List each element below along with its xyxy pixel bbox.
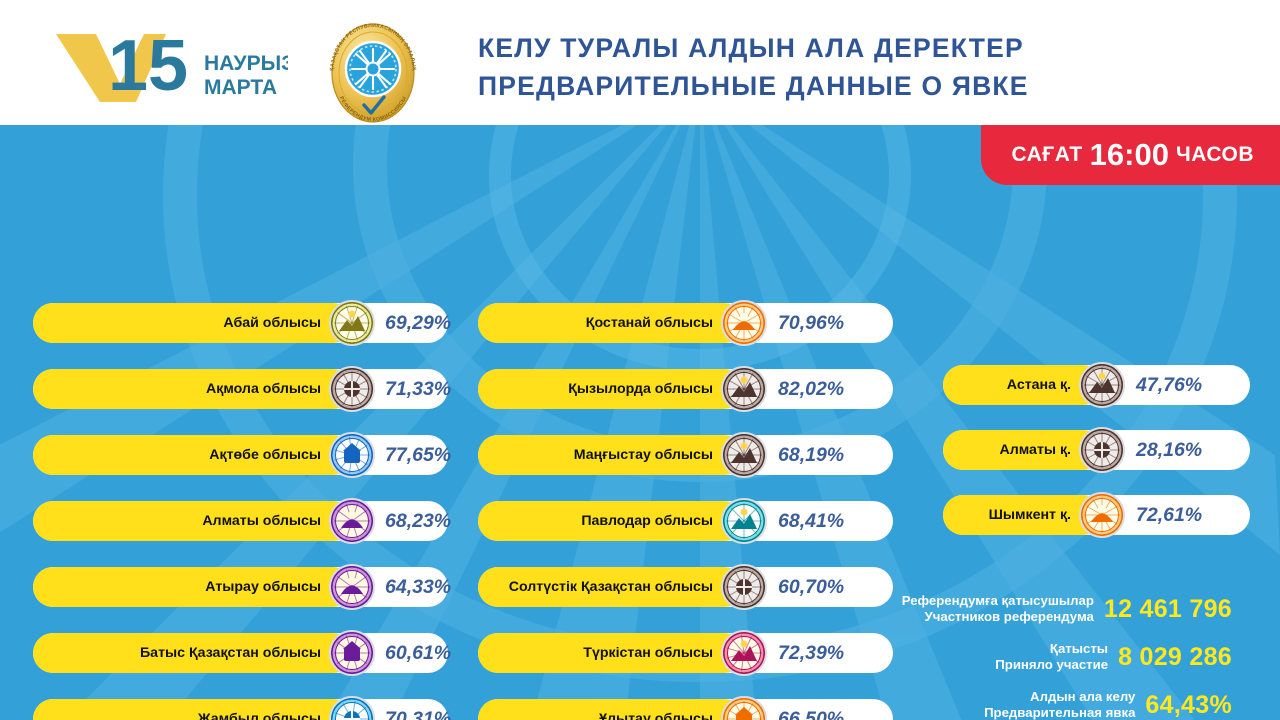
- region-name: Солтүстік Қазақстан облысы: [478, 579, 721, 595]
- region-name: Қызылорда облысы: [478, 381, 721, 397]
- summary-value: 64,43%: [1145, 691, 1232, 720]
- summary-label-ru: Участников референдума: [902, 609, 1094, 625]
- region-name: Алматы қ.: [943, 442, 1079, 458]
- summary-block: Референдумға қатысушыларУчастников рефер…: [880, 593, 1232, 720]
- region-name: Жамбыл облысы: [33, 711, 329, 720]
- summary-labels: ҚатыстыПриняло участие: [995, 641, 1108, 673]
- turnout-percent: 72,39%: [778, 642, 844, 665]
- logo-month-ru: МАРТА: [204, 76, 277, 99]
- region-row[interactable]: Қызылорда облысы 82,02%: [478, 369, 893, 409]
- page-title: КЕЛУ ТУРАЛЫ АЛДЫН АЛА ДЕРЕКТЕР ПРЕДВАРИТ…: [478, 29, 1178, 105]
- region-row[interactable]: Астана қ. 47,76%: [943, 365, 1250, 405]
- turnout-percent: 68,41%: [778, 510, 844, 533]
- turnout-percent: 68,19%: [778, 444, 844, 467]
- region-row[interactable]: Ақмола облысы 71,33%: [33, 369, 448, 409]
- turnout-percent: 60,70%: [778, 576, 844, 599]
- region-name: Түркістан облысы: [478, 645, 721, 661]
- mangystau-oblysy-emblem: [721, 432, 767, 478]
- region-name: Атырау облысы: [33, 579, 329, 595]
- summary-row: Алдын ала келуПредварительная явка64,43%: [880, 689, 1232, 720]
- qostanai-oblysy-emblem: [721, 300, 767, 346]
- aqtobe-oblysy-emblem: [329, 432, 375, 478]
- atyrau-oblysy-emblem: [329, 564, 375, 610]
- region-row[interactable]: Ұлытау облысы 66,50%: [478, 699, 893, 720]
- main-panel: САҒАТ 16:00 ЧАСОВ Абай облысы 69,29%Ақмо…: [0, 125, 1280, 720]
- region-row[interactable]: Алматы облысы 68,23%: [33, 501, 448, 541]
- region-row[interactable]: Абай облысы 69,29%: [33, 303, 448, 343]
- turnout-percent: 68,23%: [385, 510, 451, 533]
- region-name: Алматы облысы: [33, 513, 329, 529]
- title-line-kk: КЕЛУ ТУРАЛЫ АЛДЫН АЛА ДЕРЕКТЕР: [478, 29, 1178, 67]
- clock-time: 16:00: [1090, 137, 1169, 173]
- region-name: Ақмола облысы: [33, 381, 329, 397]
- page-header: 15 НАУРЫЗ МАРТА: [0, 0, 1280, 125]
- abai-oblysy-emblem: [329, 300, 375, 346]
- turnout-percent: 69,29%: [385, 312, 451, 335]
- turnout-percent: 70,96%: [778, 312, 844, 335]
- svg-text:15: 15: [108, 28, 188, 102]
- region-row[interactable]: Түркістан облысы 72,39%: [478, 633, 893, 673]
- region-name: Маңғыстау облысы: [478, 447, 721, 463]
- turkistan-oblysy-emblem: [721, 630, 767, 676]
- cities-column: Астана қ. 47,76%Алматы қ. 28,16%Шымкент …: [943, 365, 1250, 560]
- logo-month-kk: НАУРЫЗ: [204, 52, 288, 75]
- summary-label-kk: Алдын ала келу: [984, 689, 1135, 705]
- aqmola-oblysy-emblem: [329, 366, 375, 412]
- summary-label-ru: Приняло участие: [995, 657, 1108, 673]
- region-name: Қостанай облысы: [478, 315, 721, 331]
- region-row[interactable]: Алматы қ. 28,16%: [943, 430, 1250, 470]
- turnout-percent: 28,16%: [1136, 439, 1202, 462]
- region-row[interactable]: Батыс Қазақстан облысы 60,61%: [33, 633, 448, 673]
- clock-suffix-ru: ЧАСОВ: [1176, 143, 1254, 167]
- region-name: Ақтөбе облысы: [33, 447, 329, 463]
- soltustik-qazaqstan-oblysy-emblem: [721, 564, 767, 610]
- summary-label-kk: Қатысты: [995, 641, 1108, 657]
- summary-value: 12 461 796: [1104, 595, 1232, 624]
- region-row[interactable]: Ақтөбе облысы 77,65%: [33, 435, 448, 475]
- region-name: Ұлытау облысы: [478, 711, 721, 720]
- turnout-percent: 47,76%: [1136, 374, 1202, 397]
- turnout-percent: 64,33%: [385, 576, 451, 599]
- summary-labels: Референдумға қатысушыларУчастников рефер…: [902, 593, 1094, 625]
- region-row[interactable]: Павлодар облысы 68,41%: [478, 501, 893, 541]
- summary-value: 8 029 286: [1118, 643, 1232, 672]
- region-row[interactable]: Шымкент қ. 72,61%: [943, 495, 1250, 535]
- turnout-percent: 60,61%: [385, 642, 451, 665]
- batys-qazaqstan-oblysy-emblem: [329, 630, 375, 676]
- turnout-percent: 66,50%: [778, 708, 844, 720]
- region-row[interactable]: Солтүстік Қазақстан облысы 60,70%: [478, 567, 893, 607]
- region-row[interactable]: Жамбыл облысы 70,31%: [33, 699, 448, 720]
- summary-label-kk: Референдумға қатысушылар: [902, 593, 1094, 609]
- region-name: Астана қ.: [943, 377, 1079, 393]
- summary-label-ru: Предварительная явка: [984, 705, 1135, 720]
- region-name: Шымкент қ.: [943, 507, 1079, 523]
- qyzylorda-oblysy-emblem: [721, 366, 767, 412]
- pavlodar-oblysy-emblem: [721, 498, 767, 544]
- turnout-percent: 77,65%: [385, 444, 451, 467]
- region-row[interactable]: Маңғыстау облысы 68,19%: [478, 435, 893, 475]
- regions-column-middle: Қостанай облысы 70,96%Қызылорда облысы 8…: [478, 303, 893, 720]
- region-name: Батыс Қазақстан облысы: [33, 645, 329, 661]
- title-line-ru: ПРЕДВАРИТЕЛЬНЫЕ ДАННЫЕ О ЯВКЕ: [478, 67, 1178, 105]
- region-name: Абай облысы: [33, 315, 329, 331]
- region-row[interactable]: Қостанай облысы 70,96%: [478, 303, 893, 343]
- turnout-percent: 82,02%: [778, 378, 844, 401]
- turnout-percent: 72,61%: [1136, 504, 1202, 527]
- region-name: Павлодар облысы: [478, 513, 721, 529]
- turnout-percent: 71,33%: [385, 378, 451, 401]
- region-row[interactable]: Атырау облысы 64,33%: [33, 567, 448, 607]
- cec-referendum-seal-icon: ҚАЗАҚСТАН РЕСПУБЛИКАСЫНЫҢ ОРТАЛЫҚ РЕФЕРЕ…: [314, 23, 432, 123]
- clock-banner: САҒАТ 16:00 ЧАСОВ: [981, 125, 1280, 185]
- almaty-city-emblem: [1079, 427, 1125, 473]
- regions-column-left: Абай облысы 69,29%Ақмола облысы 71,33%Ақ…: [33, 303, 448, 720]
- shymkent-city-emblem: [1079, 492, 1125, 538]
- turnout-percent: 70,31%: [385, 708, 451, 720]
- summary-row: ҚатыстыПриняло участие8 029 286: [880, 641, 1232, 673]
- campaign-logo-15-march: 15 НАУРЫЗ МАРТА: [48, 28, 288, 102]
- summary-row: Референдумға қатысушыларУчастников рефер…: [880, 593, 1232, 625]
- astana-city-emblem: [1079, 362, 1125, 408]
- almaty-oblysy-emblem: [329, 498, 375, 544]
- summary-labels: Алдын ала келуПредварительная явка: [984, 689, 1135, 720]
- clock-prefix-kk: САҒАТ: [1011, 143, 1082, 167]
